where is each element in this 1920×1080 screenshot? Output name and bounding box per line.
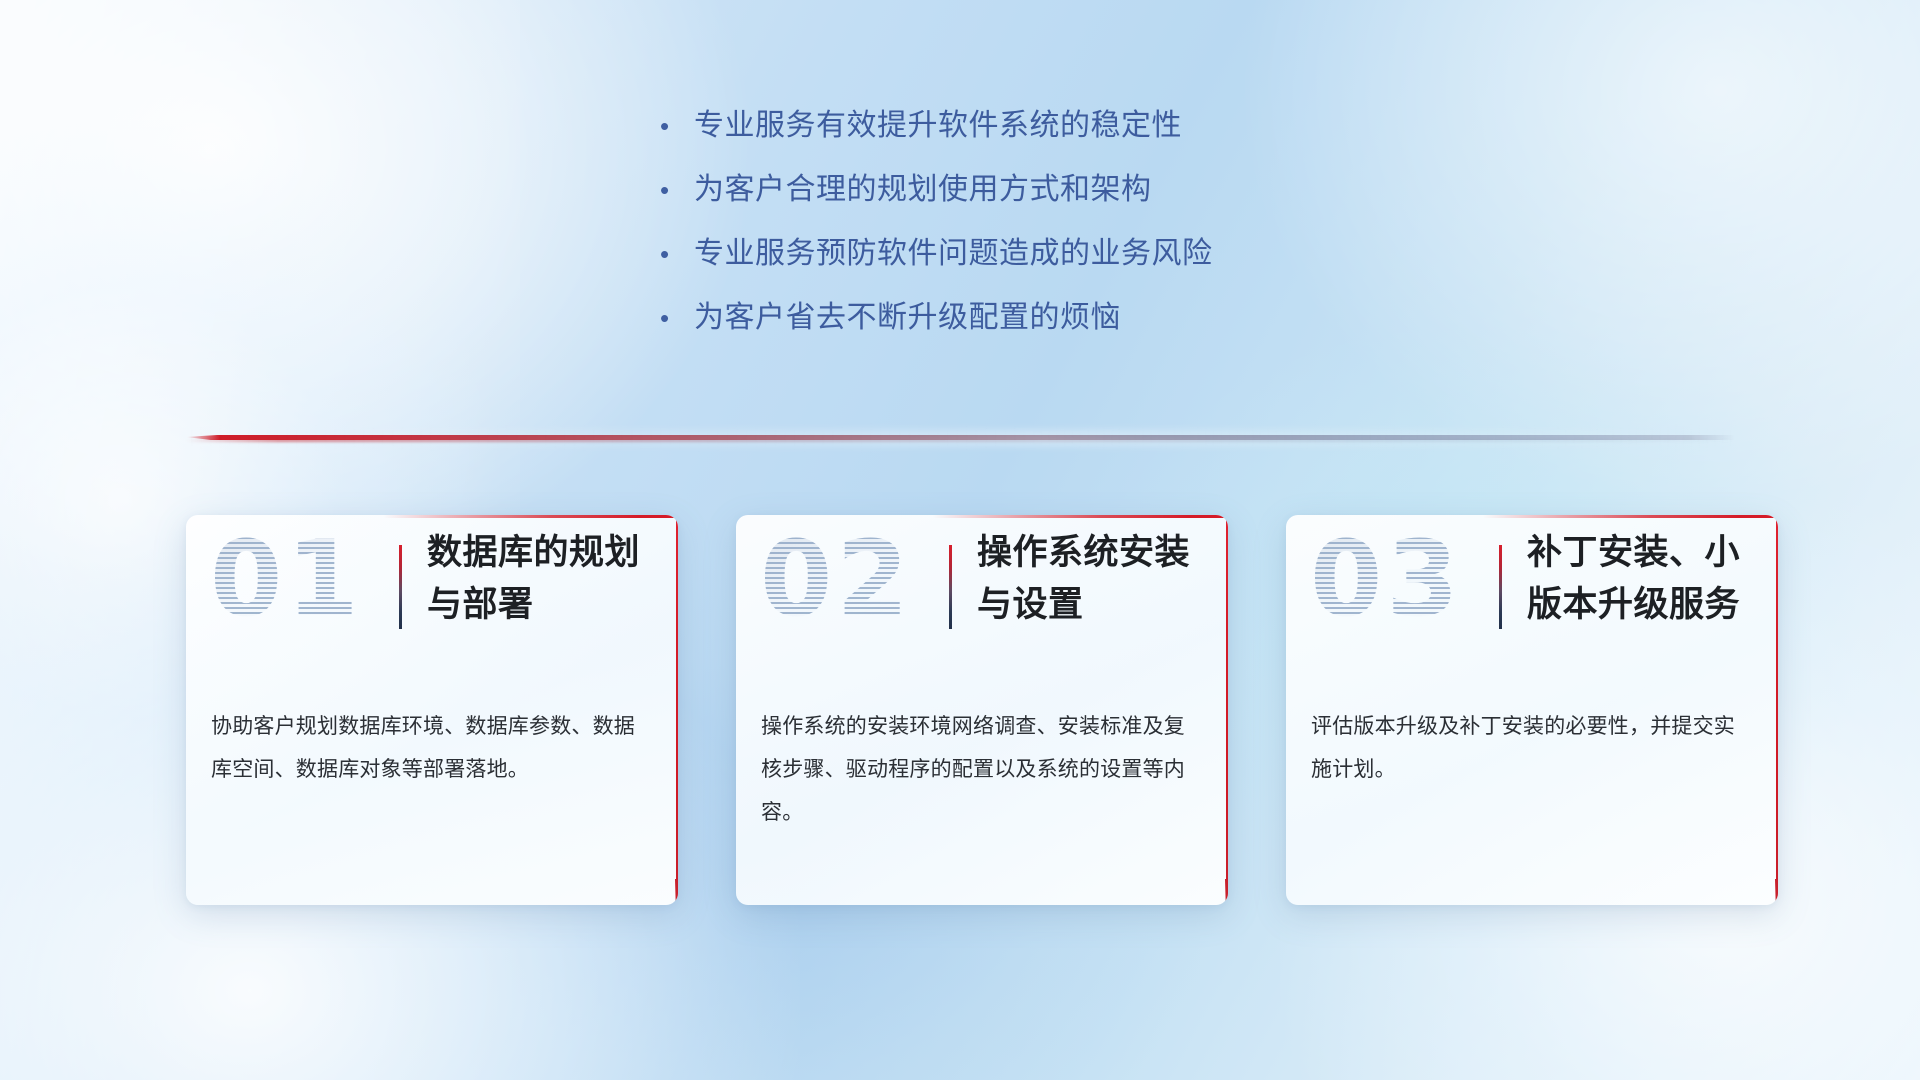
card-number-watermark: 01 [210, 527, 363, 631]
card-accent-corner [1225, 879, 1228, 905]
card-description: 评估版本升级及补丁安装的必要性，并提交实施计划。 [1311, 705, 1751, 791]
service-card-03[interactable]: 03 03 补丁安装、小版本升级服务 评估版本升级及补丁安装的必要性，并提交实施… [1286, 515, 1778, 905]
card-number-watermark: 02 [760, 527, 913, 631]
list-item: • 专业服务预防软件问题造成的业务风险 [660, 232, 1213, 296]
bullet-dot-icon: • [660, 296, 694, 340]
bullet-text: 专业服务有效提升软件系统的稳定性 [694, 104, 1182, 148]
card-number-watermark: 03 [1310, 527, 1463, 631]
list-item: • 为客户合理的规划使用方式和架构 [660, 168, 1213, 232]
bullet-dot-icon: • [660, 104, 694, 148]
card-title-divider-bar [399, 545, 402, 629]
service-card-02[interactable]: 02 02 操作系统安装与设置 操作系统的安装环境网络调查、安装标准及复核步骤、… [736, 515, 1228, 905]
list-item: • 专业服务有效提升软件系统的稳定性 [660, 104, 1213, 168]
card-title: 补丁安装、小版本升级服务 [1527, 527, 1763, 631]
card-title-divider-bar [949, 545, 952, 629]
card-accent-corner [675, 879, 678, 905]
card-header: 01 01 数据库的规划与部署 [186, 515, 678, 691]
card-title: 操作系统安装与设置 [977, 527, 1213, 631]
card-description: 协助客户规划数据库环境、数据库参数、数据库空间、数据库对象等部署落地。 [211, 705, 651, 791]
bullet-dot-icon: • [660, 168, 694, 212]
service-card-01[interactable]: 01 01 数据库的规划与部署 协助客户规划数据库环境、数据库参数、数据库空间、… [186, 515, 678, 905]
bullet-text: 为客户省去不断升级配置的烦恼 [694, 296, 1121, 340]
card-description: 操作系统的安装环境网络调查、安装标准及复核步骤、驱动程序的配置以及系统的设置等内… [761, 705, 1201, 834]
section-divider [186, 430, 1735, 446]
card-header: 03 03 补丁安装、小版本升级服务 [1286, 515, 1778, 691]
bullet-dot-icon: • [660, 232, 694, 276]
card-accent-corner [1775, 879, 1778, 905]
card-title-divider-bar [1499, 545, 1502, 629]
card-title: 数据库的规划与部署 [427, 527, 663, 631]
bullet-text: 专业服务预防软件问题造成的业务风险 [694, 232, 1213, 276]
card-header: 02 02 操作系统安装与设置 [736, 515, 1228, 691]
bullet-text: 为客户合理的规划使用方式和架构 [694, 168, 1152, 212]
benefits-bullet-list: • 专业服务有效提升软件系统的稳定性 • 为客户合理的规划使用方式和架构 • 专… [660, 104, 1213, 360]
divider-sheen [186, 430, 1735, 446]
list-item: • 为客户省去不断升级配置的烦恼 [660, 296, 1213, 360]
